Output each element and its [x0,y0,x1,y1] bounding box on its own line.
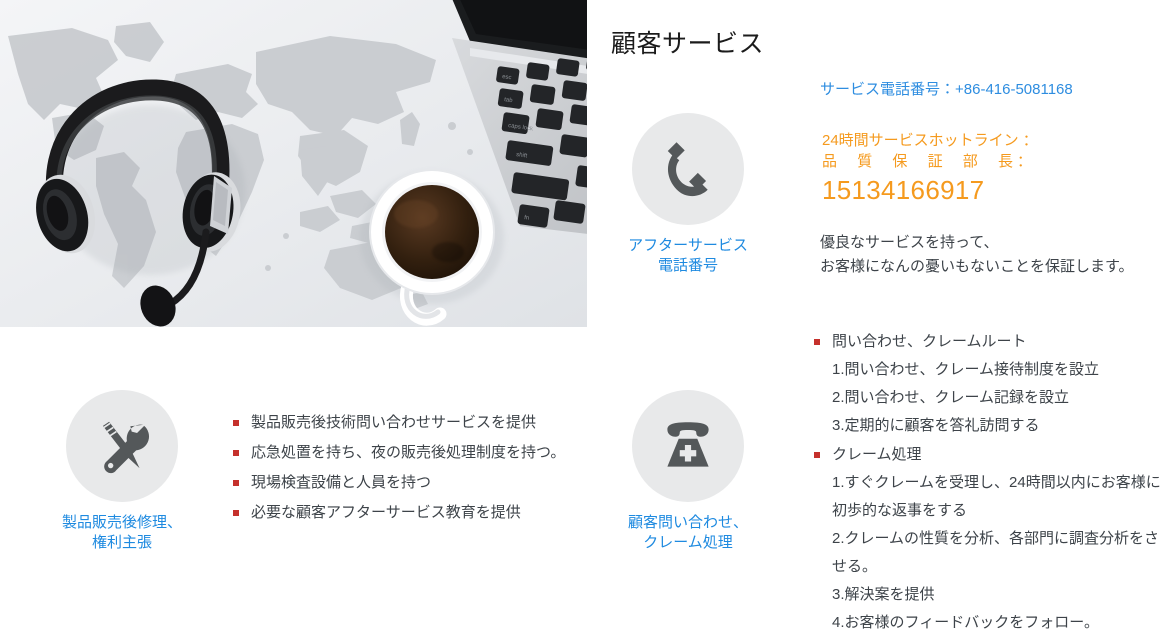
hotline-label-row: 24時間サービスホットライン ： [822,130,1032,151]
hotline-block: 24時間サービスホットライン ： 品質保証部長 ： 15134166917 [822,130,1032,206]
repair-rights-icon-circle [66,390,178,502]
aftersales-phone-icon-circle [632,113,744,225]
complaint-flow-steps: 1.すぐクレームを受理し、24時間以内にお客様に初歩的な返事をする2.クレームの… [832,469,1164,637]
complaint-flow-step: 2.クレームの性質を分析、各部門に調査分析をさせる。 [832,525,1164,581]
phone-handset-icon [653,134,723,204]
complaint-flow-step: 4.お客様のフィードバックをフォロー。 [832,609,1164,637]
complaint-flow-step: 1.すぐクレームを受理し、24時間以内にお客様に初歩的な返事をする [832,469,1164,525]
complaint-icon-circle [632,390,744,502]
aftersales-feature-item: 必要な顧客アフターサービス教育を提供 [231,498,601,528]
hotline-label: 24時間サービスホットライン [822,130,1019,151]
aftersales-feature-item: 現場検査設備と人員を持つ [231,468,601,498]
complaint-flow-step: 3.解決案を提供 [832,581,1164,609]
quality-manager-label: 品質保証部長 [822,151,1013,172]
hotline-label-colon: ： [1019,130,1038,151]
complaint-flow-group: クレーム処理1.すぐクレームを受理し、24時間以内にお客様に初歩的な返事をする2… [812,441,1164,637]
aftersales-feature-item: 製品販売後技術問い合わせサービスを提供 [231,408,601,438]
aftersales-phone-caption: アフターサービス 電話番号 [588,236,788,276]
complaint-flow-step: 1.問い合わせ、クレーム接待制度を設立 [832,356,1164,384]
complaint-flow-group-title: 問い合わせ、クレームルート [832,328,1164,356]
desk-phone-plus-icon [655,413,721,479]
quality-manager-colon: ： [1013,151,1032,172]
svg-text:fn: fn [524,215,530,222]
aftersales-features-list: 製品販売後技術問い合わせサービスを提供応急処置を持ち、夜の販売後処理制度を持つ。… [231,408,601,528]
complaint-flow-group: 問い合わせ、クレームルート1.問い合わせ、クレーム接待制度を設立2.問い合わせ、… [812,328,1164,440]
svg-text:tab: tab [504,97,514,104]
hero-photo: esc tab caps lock shift fn [0,0,587,327]
wrench-screwdriver-icon [89,413,155,479]
complaint-flow-step: 3.定期的に顧客を答礼訪問する [832,412,1164,440]
quality-manager-label-row: 品質保証部長 ： [822,151,1032,172]
complaint-flow-list: 問い合わせ、クレームルート1.問い合わせ、クレーム接待制度を設立2.問い合わせ、… [812,328,1164,638]
complaint-flow-steps: 1.問い合わせ、クレーム接待制度を設立2.問い合わせ、クレーム記録を設立3.定期… [832,356,1164,440]
repair-rights-caption: 製品販売後修理、 権利主張 [22,513,222,553]
aftersales-feature-item: 応急処置を持ち、夜の販売後処理制度を持つ。 [231,438,601,468]
hotline-number[interactable]: 15134166917 [822,174,1032,206]
service-phone-number: サービス電話番号：+86-416-5081168 [820,78,1073,99]
complaint-flow-group-title: クレーム処理 [832,441,1164,469]
quality-pledge-text: 優良なサービスを持って、 お客様になんの憂いもないことを保証します。 [820,231,1134,279]
complaint-flow-step: 2.問い合わせ、クレーム記録を設立 [832,384,1164,412]
page-title: 顧客サービス [611,29,764,59]
complaint-caption: 顧客問い合わせ、 クレーム処理 [588,513,788,553]
